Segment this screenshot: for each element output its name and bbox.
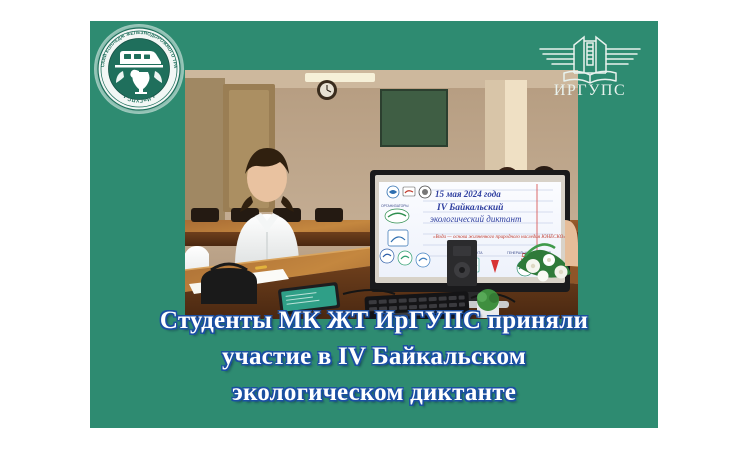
irgups-logo-label: ИРГУПС (554, 82, 626, 97)
slide-title-2: экологический диктант (430, 214, 522, 224)
slide-date: 15 мая 2024 года (435, 189, 501, 199)
event-photo: 15 мая 2024 года IV Байкальский экологич… (185, 70, 578, 319)
page-title-line-1: Студенты МК ЖТ ИрГУПС приняли (108, 303, 640, 339)
slide-subtitle: «Вода — основа жизненного природного нас… (433, 235, 566, 240)
screenshot-root: МЕДИЦИНСКИЙ КОЛЛЕДЖ ЖЕЛЕЗНОДОРОЖНОГО ТРА… (0, 0, 750, 450)
irgups-logo: ИРГУПС (526, 27, 654, 97)
page-title: Студенты МК ЖТ ИрГУПС приняли участие в … (108, 303, 640, 411)
announcement-card: МЕДИЦИНСКИЙ КОЛЛЕДЖ ЖЕЛЕЗНОДОРОЖНОГО ТРА… (90, 21, 658, 428)
slide-title-1: IV Байкальский (436, 202, 503, 213)
page-title-line-2: участие в IV Байкальском (108, 339, 640, 375)
college-emblem: МЕДИЦИНСКИЙ КОЛЛЕДЖ ЖЕЛЕЗНОДОРОЖНОГО ТРА… (93, 23, 185, 115)
page-title-line-3: экологическом диктанте (108, 375, 640, 411)
svg-text:ОРГАНИЗАТОРЫ: ОРГАНИЗАТОРЫ (381, 204, 409, 208)
